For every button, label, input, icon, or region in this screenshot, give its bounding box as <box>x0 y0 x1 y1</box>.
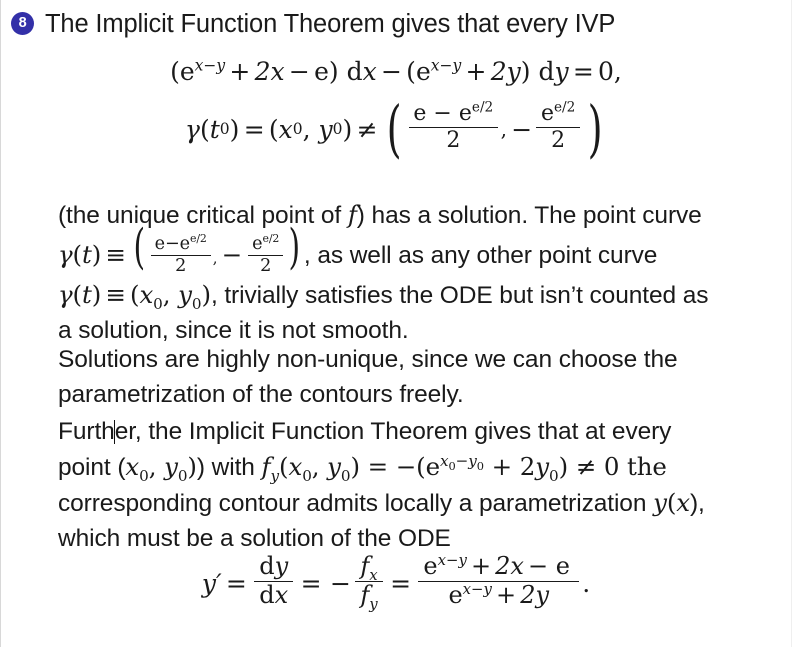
para3-line2-prefix: point ( <box>58 454 125 481</box>
para1-x0: x <box>139 280 153 309</box>
para1-t-symbol: t <box>82 240 92 269</box>
eq1-dy: dy <box>538 57 568 86</box>
para3-x0: x <box>125 452 139 481</box>
para3-line3-suffix: ), <box>690 490 705 517</box>
para3-line-1: Further, the Implicit Function Theorem g… <box>58 414 778 449</box>
eq1-zero: 0, <box>598 57 622 86</box>
eq1-e: e <box>180 57 195 86</box>
para1-big-open-paren: ( <box>134 233 146 262</box>
para1-line3-tail: , trivially satisfies the ODE but isn’t … <box>211 282 708 309</box>
eq3-equals-1: = <box>222 569 251 598</box>
para3-line-3: corresponding contour admits locally a p… <box>58 485 778 521</box>
para2-line-1: Solutions are highly non-unique, since w… <box>58 342 778 377</box>
equation-1-body: (ex−y+2x−e) dx−(ex−y+2y) dy=0, <box>170 57 622 86</box>
para1-line-3: γ(t)≡(x0, y0), trivially satisfies the O… <box>58 277 778 313</box>
eq1-plus: + <box>225 57 254 86</box>
eq3-fy: fy <box>355 582 383 609</box>
para1-line1-suffix: ) has a solution. The point curve <box>357 202 702 229</box>
para1-line1-prefix: (the unique critical point of <box>58 202 348 229</box>
eq1-two-y: 2y <box>491 57 521 86</box>
para3-exponent: x0−y0 <box>440 452 484 470</box>
equation-3-body: y′=dydx=−fxfy=ex−y+2x− eex−y+2y. <box>202 556 590 611</box>
para3-plus-two: + 2 <box>492 452 536 481</box>
eq1-minus: − <box>285 57 314 86</box>
eq2-fraction-left: e − ee/22 <box>409 102 498 153</box>
para3-line2-with: ) with <box>197 454 262 481</box>
display-equation-2: γ(t0)=(x0, y0)≠(e − ee/22,−ee/22) <box>1 104 791 155</box>
bullet-number-badge: 8 <box>11 12 34 35</box>
para3-neq-zero: ) ≠ 0 the <box>559 452 667 481</box>
eq1-equals: = <box>569 57 598 86</box>
eq1-e-2: e <box>416 57 431 86</box>
para1-line-1: (the unique critical point of f) has a s… <box>58 197 778 233</box>
eq1-exponent-2: x−y <box>431 57 462 75</box>
para1-gamma: γ <box>58 240 73 269</box>
para1-t-symbol-2: t <box>82 280 92 309</box>
bullet-item-8: 8 The Implicit Function Theorem gives th… <box>11 9 615 39</box>
eq2-big-open-paren: ( <box>386 110 401 148</box>
para1-line-2: γ(t)≡(e−ee/22,−ee/22), as well as any ot… <box>58 233 657 277</box>
equation-2-body: γ(t0)=(x0, y0)≠(e − ee/22,−ee/22) <box>185 104 607 155</box>
eq2-equals: = <box>239 115 268 144</box>
para1-f-symbol: f <box>348 200 357 229</box>
para1-frac-right-numerator: ee/2 <box>248 235 283 256</box>
eq2-frac-left-numerator: e − ee/2 <box>409 102 498 128</box>
para1-line2-tail: , as well as any other point curve <box>304 238 657 273</box>
eq2-frac-right-denominator: 2 <box>546 128 570 153</box>
para3-y-of-x: y <box>653 488 667 517</box>
para1-frac-left-denominator: 2 <box>171 256 190 276</box>
para1-equiv-2: ≡ <box>101 280 130 309</box>
eq1-minus-2: − <box>377 57 406 86</box>
eq3-dx: dx <box>254 582 293 609</box>
para3-y0: y <box>164 452 178 481</box>
para1-fraction-left: e−ee/22 <box>151 235 211 276</box>
eq2-fraction-right: ee/22 <box>536 102 580 153</box>
eq3-fx-fy: fxfy <box>355 554 383 609</box>
eq1-e-const: e <box>314 57 329 86</box>
eq3-numerator: ex−y+2x− e <box>418 554 579 582</box>
eq3-main-fraction: ex−y+2x− eex−y+2y <box>418 554 579 609</box>
eq2-neq: ≠ <box>352 115 381 144</box>
para1-gamma-2: γ <box>58 280 73 309</box>
para3-line1-suffix: er, the Implicit Function Theorem gives … <box>115 418 672 445</box>
paragraph-non-unique: Solutions are highly non-unique, since w… <box>58 342 778 412</box>
paragraph-further: Further, the Implicit Function Theorem g… <box>58 414 778 556</box>
para1-big-close-paren: ) <box>289 233 301 262</box>
eq3-dy: dy <box>254 554 293 582</box>
para1-y0: y <box>178 280 192 309</box>
para3-neg-open: ) = −(e <box>350 452 440 481</box>
para1-fraction-right: ee/22 <box>248 235 283 276</box>
eq3-period: . <box>582 569 590 598</box>
para1-equiv: ≡ <box>101 240 130 269</box>
eq2-gamma: γ <box>185 115 200 144</box>
eq1-close-paren-2: ) <box>521 57 531 86</box>
para2-line-2: parametrization of the contours freely. <box>58 377 778 412</box>
eq1-dx: dx <box>347 57 377 86</box>
eq1-plus-2: + <box>461 57 490 86</box>
eq3-minus: − <box>326 569 352 598</box>
paragraph-point-curve: (the unique critical point of f) has a s… <box>58 197 778 348</box>
eq3-dy-dx: dydx <box>254 554 293 609</box>
eq3-denominator: ex−y+2y <box>443 582 554 609</box>
eq2-frac-right-numerator: ee/2 <box>536 102 580 128</box>
slide-canvas: 8 The Implicit Function Theorem gives th… <box>0 0 792 647</box>
eq1-open-paren-2: ( <box>406 57 416 86</box>
eq1-open-paren: ( <box>170 57 180 86</box>
para1-frac-right-denominator: 2 <box>256 256 275 276</box>
eq3-y-prime: y′ <box>202 569 222 598</box>
eq3-equals-2: = <box>296 569 325 598</box>
para3-line-2: point (x0, y0)) with fy(x0, y0) = −(ex0−… <box>58 449 778 485</box>
para3-line3-prefix: corresponding contour admits locally a p… <box>58 490 653 517</box>
para1-frac-left-numerator: e−ee/2 <box>151 235 211 256</box>
para3-line-4: which must be a solution of the ODE <box>58 521 778 556</box>
eq2-big-close-paren: ) <box>587 110 602 148</box>
display-equation-1: (ex−y+2x−e) dx−(ex−y+2y) dy=0, <box>1 57 791 86</box>
eq2-frac-left-denominator: 2 <box>441 128 465 153</box>
display-equation-3: y′=dydx=−fxfy=ex−y+2x− eex−y+2y. <box>1 556 791 611</box>
bullet-heading-text: The Implicit Function Theorem gives that… <box>45 9 615 39</box>
eq1-exponent: x−y <box>195 57 226 75</box>
para1-negative-sign: − <box>217 240 246 269</box>
eq3-fx: fx <box>355 554 383 582</box>
eq1-two-x: 2x <box>255 57 285 86</box>
eq3-equals-3: = <box>386 569 415 598</box>
para3-f-symbol: f <box>262 452 271 481</box>
para3-line1-prefix: Furth <box>58 418 115 445</box>
eq2-negative-sign: − <box>507 115 533 144</box>
eq1-close-paren: ) <box>329 57 339 86</box>
